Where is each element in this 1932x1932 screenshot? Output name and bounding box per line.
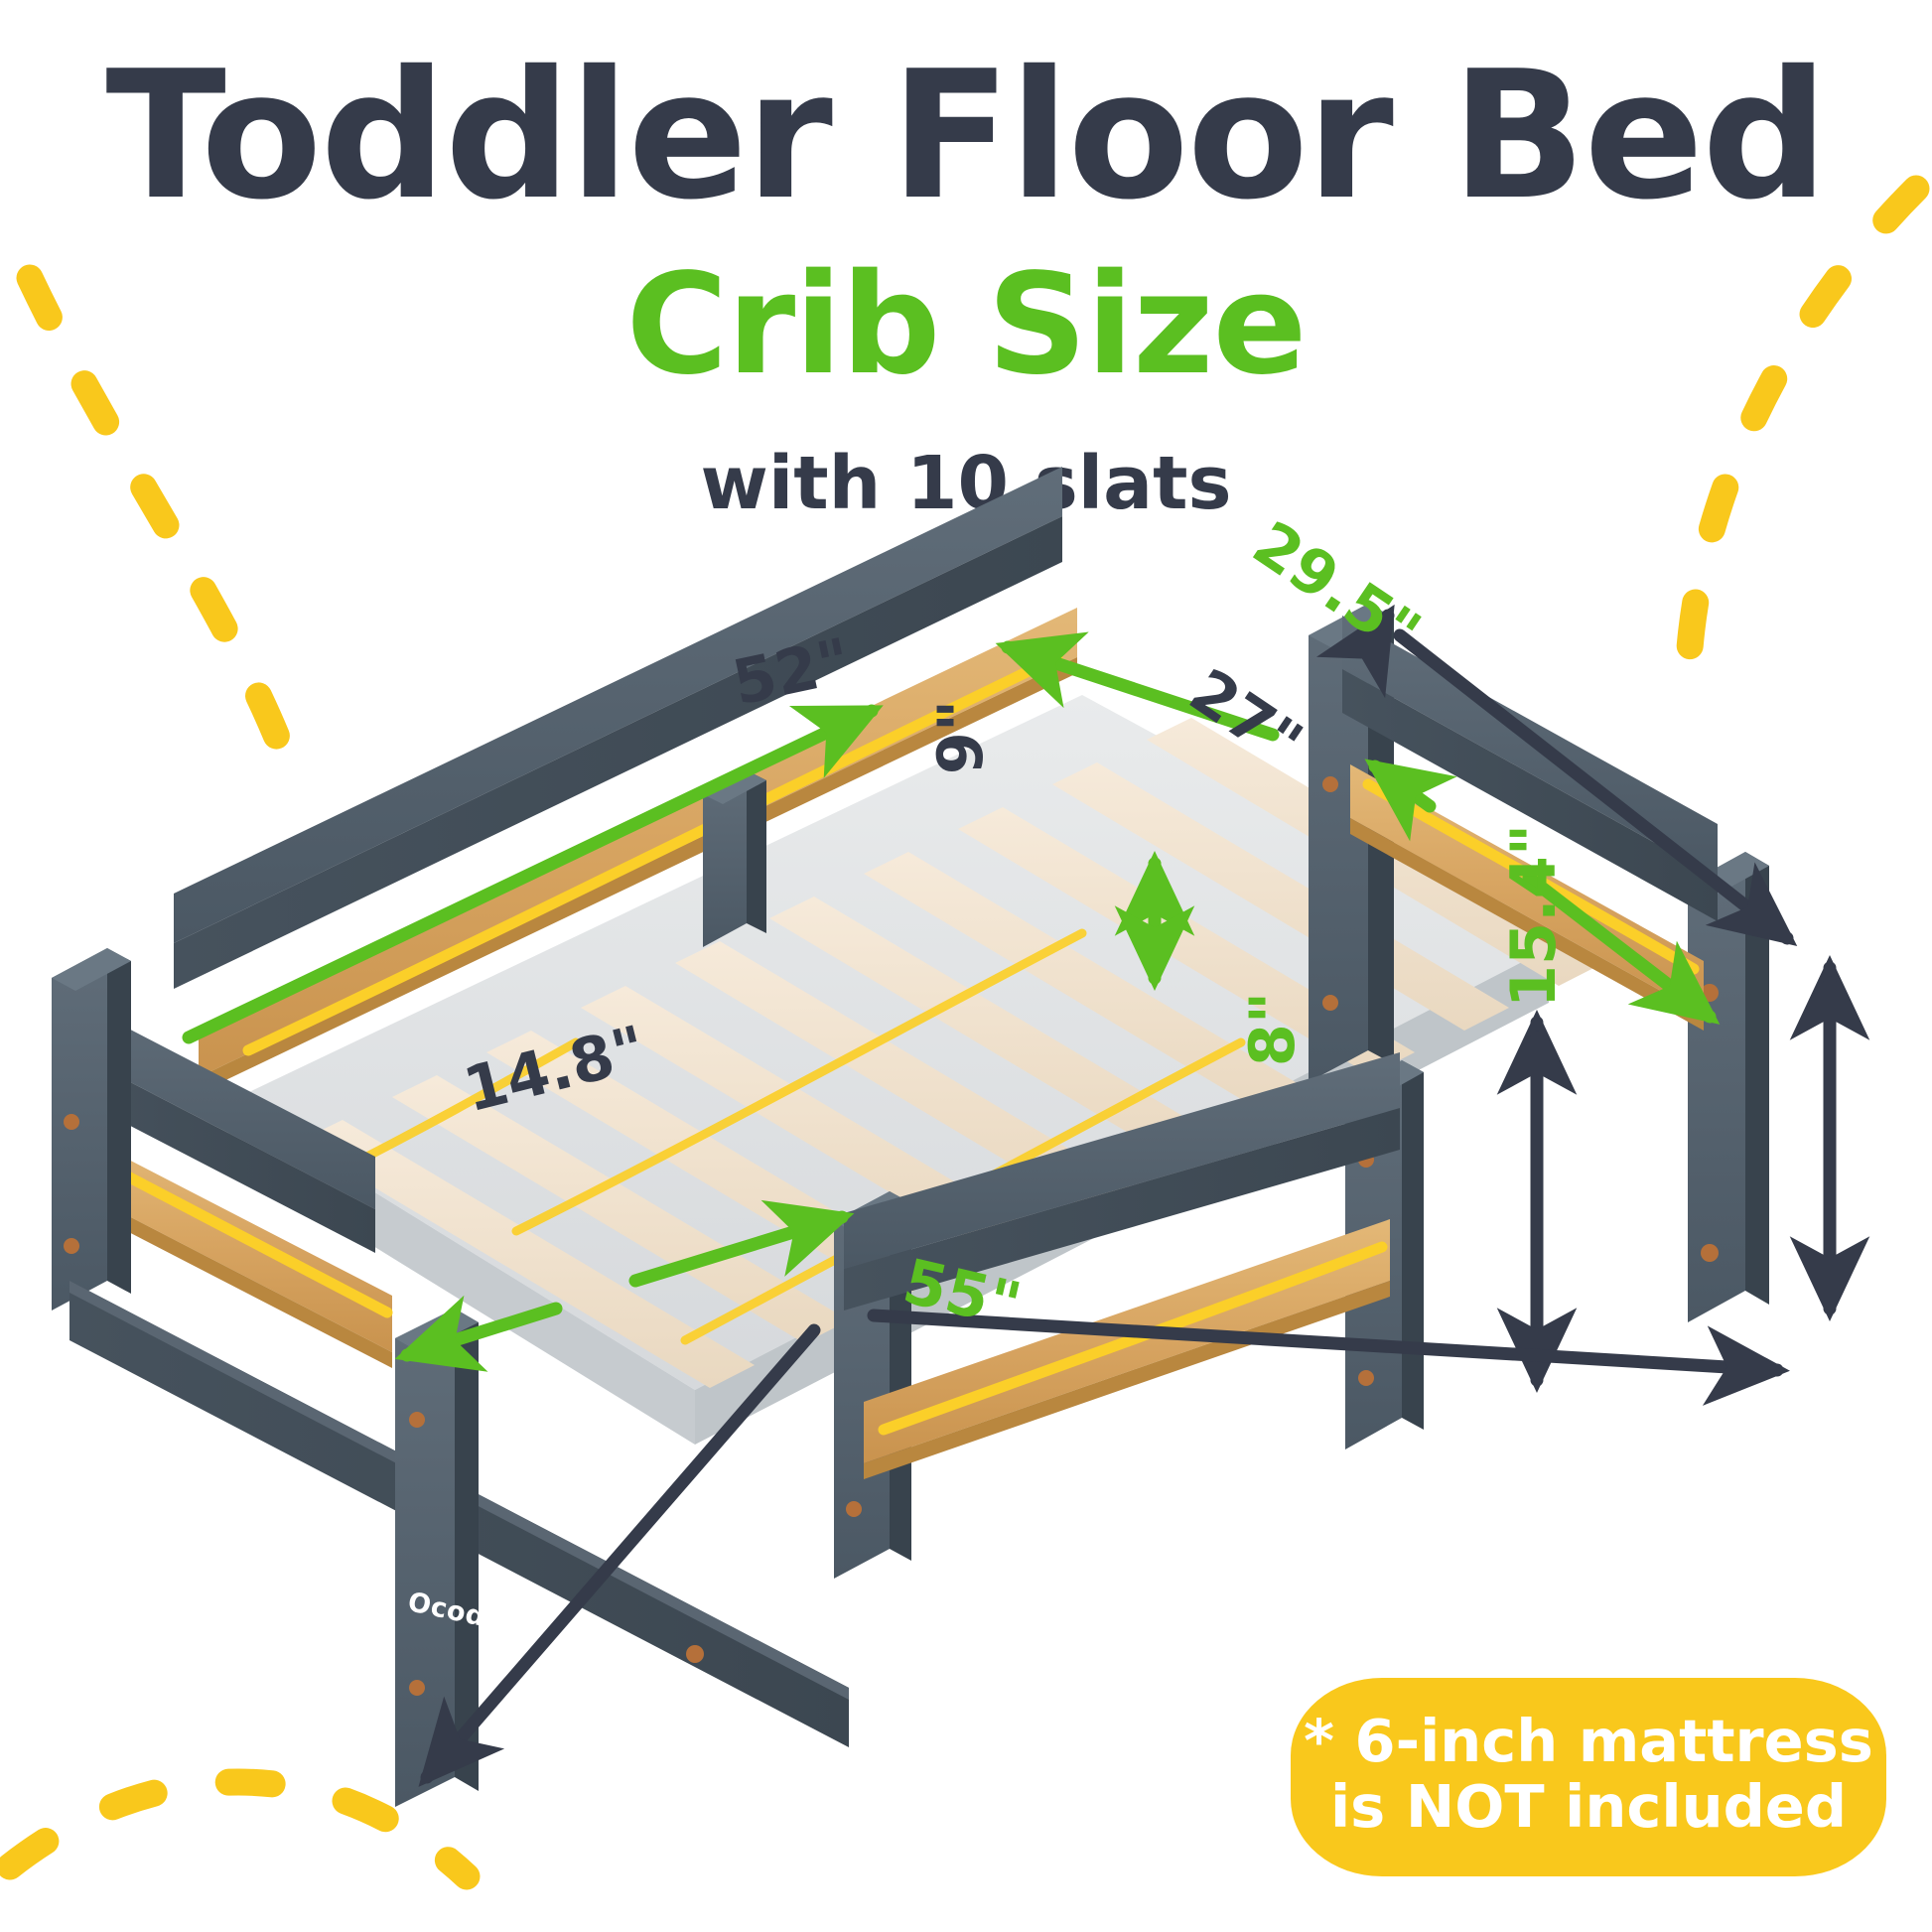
- mattress-disclaimer-line2: is NOT included: [1330, 1774, 1847, 1840]
- mattress-disclaimer-badge: * 6-inch mattress is NOT included: [1291, 1678, 1886, 1876]
- dimension-label-total-height: 15.4": [1497, 824, 1570, 1008]
- decor-dashed-arc-left: [30, 278, 298, 794]
- mattress-disclaimer-line1: * 6-inch mattress: [1304, 1709, 1873, 1774]
- product-illustration: [0, 0, 1932, 1932]
- bed-post-near-left: [52, 948, 131, 1311]
- dimension-label-deck-height: 8": [1236, 992, 1309, 1066]
- dimension-label-rail-height: 9": [924, 700, 997, 774]
- decor-dashed-arc-right: [1688, 189, 1916, 695]
- infographic-canvas: Toddler Floor Bed Crib Size with 10 slat…: [0, 0, 1932, 1932]
- bed-post-far-left: [703, 770, 766, 947]
